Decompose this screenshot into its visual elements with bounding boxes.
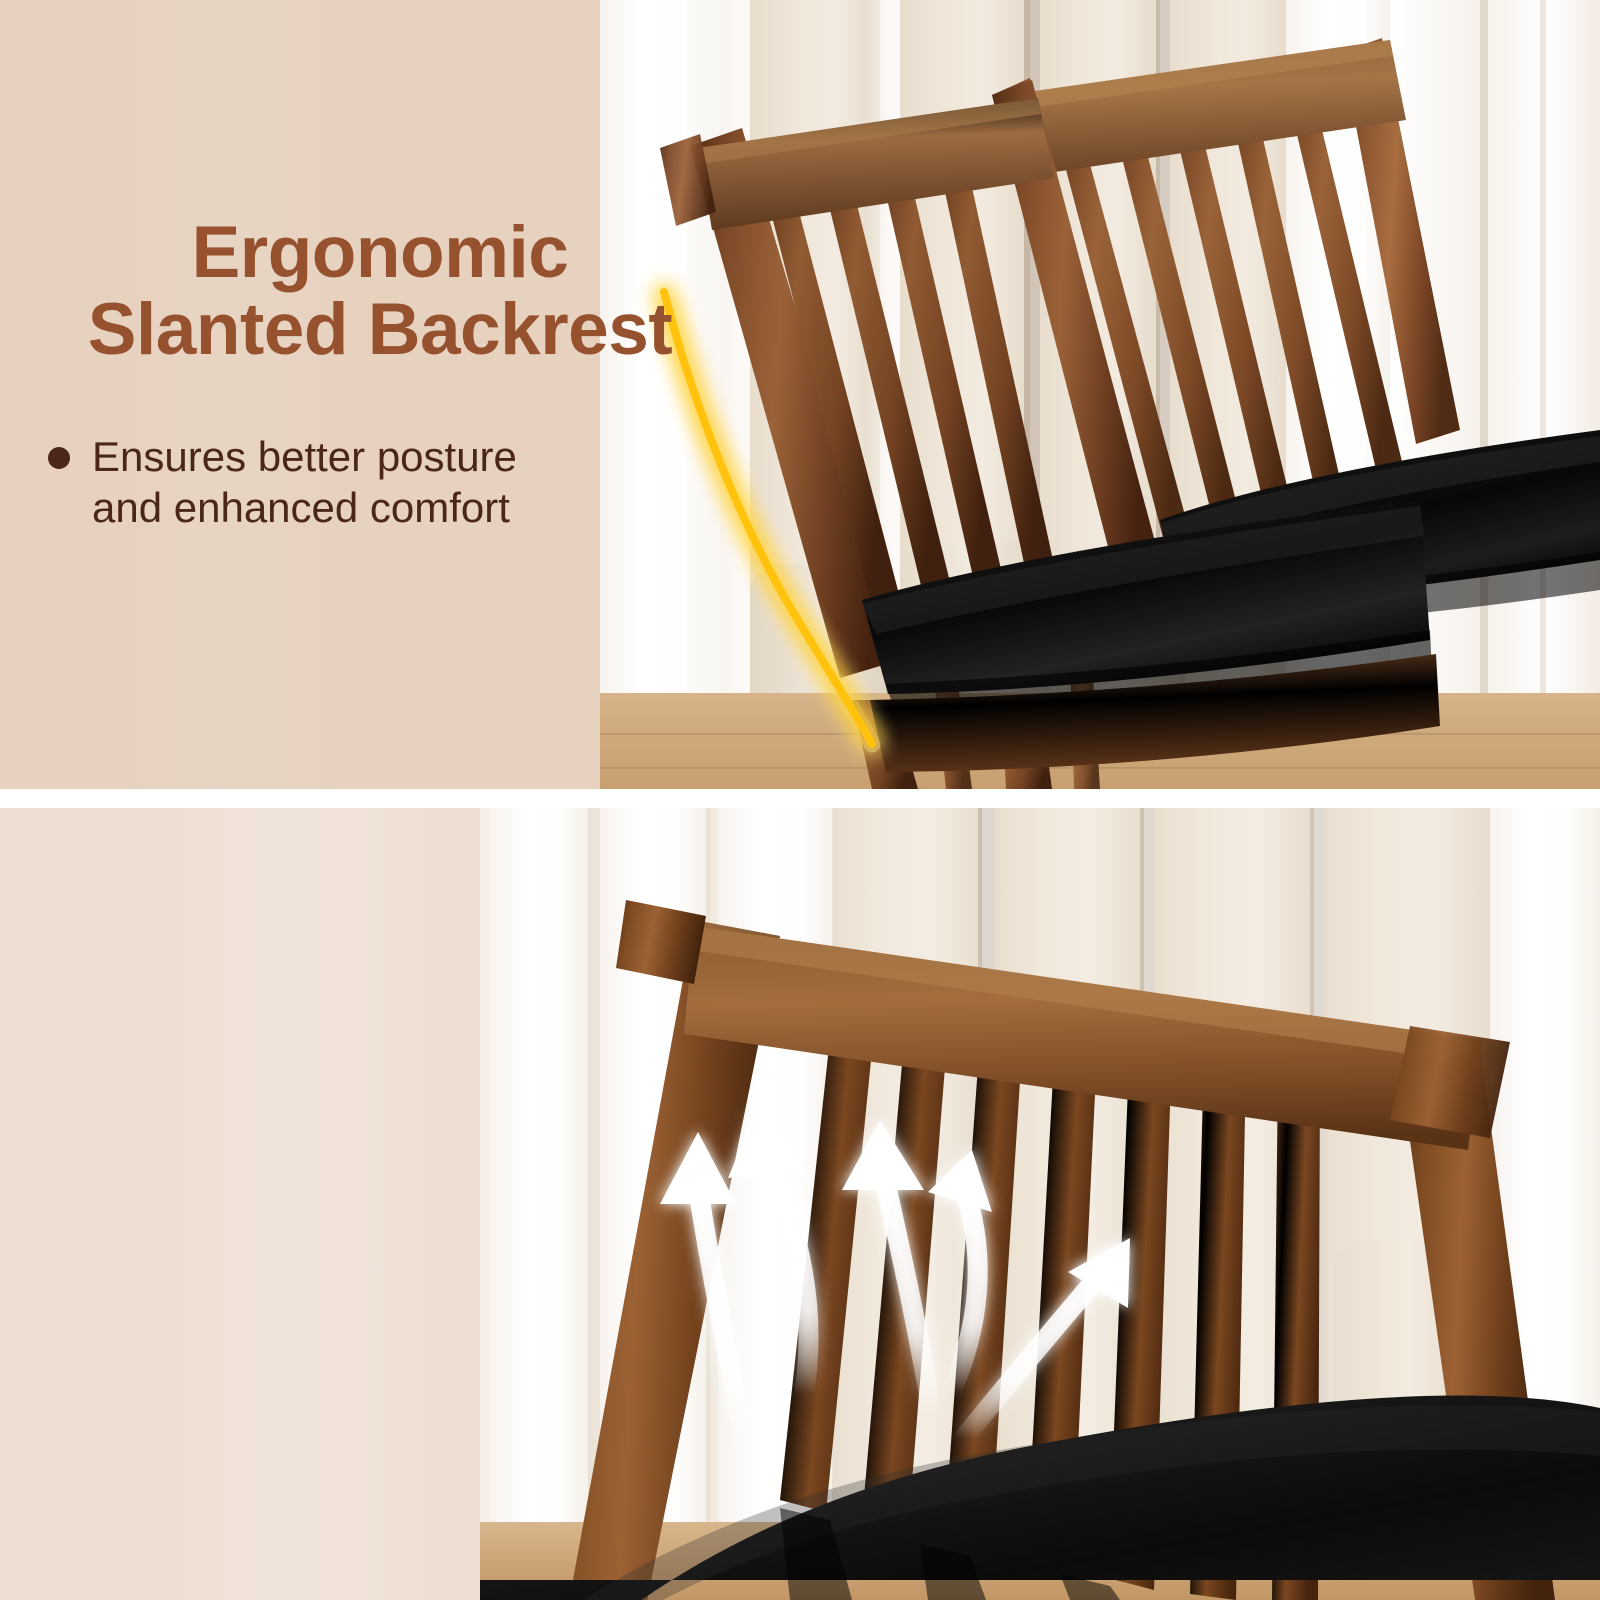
panel-divider [0,789,1600,808]
text-block-ergonomic: Ergonomic Slanted Backrest Ensures bette… [0,214,760,533]
product-feature-poster: Ergonomic Slanted Backrest Ensures bette… [0,0,1600,1600]
photo-left-fade [0,808,430,1600]
panel-title-line-1: Ergonomic [0,214,760,291]
bullet-text: Ensures better posture and enhanced comf… [92,431,517,533]
bullet-item: Ensures better posture and enhanced comf… [48,431,760,533]
chair-backrest-closeup-photo [480,808,1600,1600]
panel-title-line-2: Slanted Backrest [0,291,760,368]
chair-backrest [480,808,1600,1600]
bullet-list-ergonomic: Ensures better posture and enhanced comf… [0,431,760,533]
panel-ergonomic-slanted-backrest: Ergonomic Slanted Backrest Ensures bette… [0,0,1600,789]
panel-slatted-design: Slatted Design Promotes airflow and heat… [0,808,1600,1600]
bullet-dot-icon [48,447,70,469]
